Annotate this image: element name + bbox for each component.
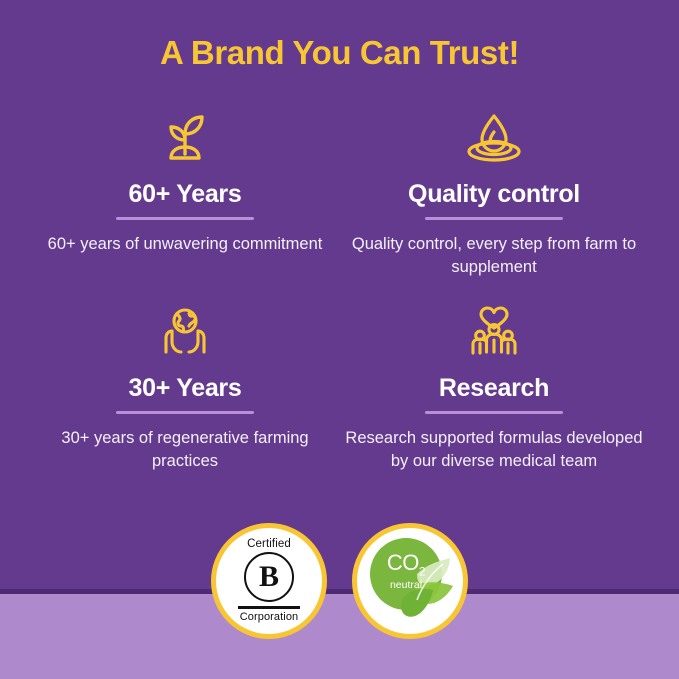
feature-body-text: Quality control, every step from farm to… <box>339 233 649 279</box>
co2-main-label: CO <box>387 550 419 575</box>
feature-divider-rule <box>425 217 563 220</box>
co2-neutral-certification-badge: CO2 neutral <box>352 523 468 639</box>
feature-divider-rule <box>116 411 254 414</box>
feature-card-60-years: 60+ Years 60+ years of unwavering commit… <box>30 104 340 256</box>
feature-divider-rule <box>425 411 563 414</box>
feature-grid: 60+ Years 60+ years of unwavering commit… <box>0 104 679 504</box>
feature-divider-rule <box>116 217 254 220</box>
co2-neutral-label: neutral <box>370 580 442 591</box>
feature-card-30-years: 30+ Years 30+ years of regenerative farm… <box>30 298 340 473</box>
bcorp-underline <box>238 606 300 609</box>
feature-card-research: Research Research supported formulas dev… <box>339 298 649 473</box>
co2-subscript-2: 2 <box>419 564 425 578</box>
feature-heading: 60+ Years <box>30 180 340 208</box>
hands-holding-globe-icon <box>30 298 340 360</box>
brand-trust-poster: A Brand You Can Trust! 60+ Years 60+ yea… <box>0 0 679 679</box>
bcorp-corporation-label: Corporation <box>216 612 322 623</box>
b-corp-certification-badge: Certified B Corporation <box>211 523 327 639</box>
feature-body-text: Research supported formulas developed by… <box>339 427 649 473</box>
heart-over-people-icon <box>339 298 649 360</box>
feature-heading: Quality control <box>339 180 649 208</box>
feature-card-quality-control: Quality control Quality control, every s… <box>339 104 649 279</box>
water-droplet-ripple-icon <box>339 104 649 166</box>
seedling-sprout-icon <box>30 104 340 166</box>
certification-badge-row: Certified B Corporation CO2 <box>0 523 679 639</box>
feature-heading: Research <box>339 374 649 402</box>
page-title: A Brand You Can Trust! <box>0 33 679 73</box>
bcorp-letter-b: B <box>244 552 294 602</box>
feature-heading: 30+ Years <box>30 374 340 402</box>
feature-body-text: 60+ years of unwavering commitment <box>30 233 340 256</box>
feature-body-text: 30+ years of regenerative farming practi… <box>30 427 340 473</box>
bcorp-certified-label: Certified <box>216 539 322 551</box>
